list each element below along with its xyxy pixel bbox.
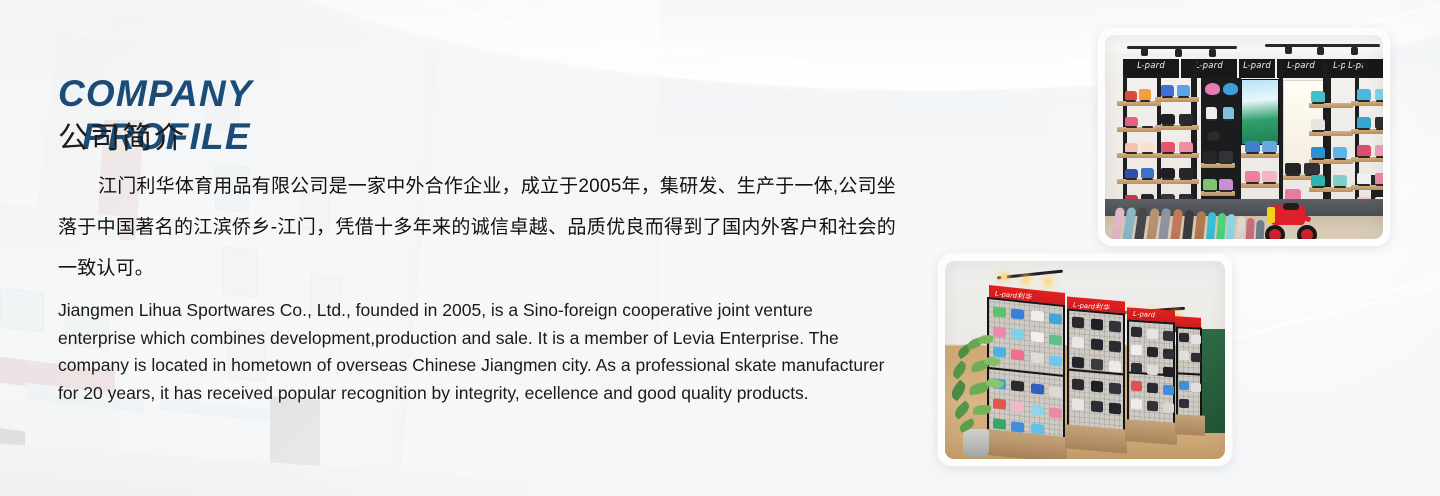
page-title-chinese: 公司简介 [58, 113, 186, 157]
company-profile-banner: COMPANY PROFILE 公司简介 江门利华体育用品有限公司是一家中外合作… [0, 0, 1440, 496]
photo-1-image: L-pard L-pard L-pard L-pard L-pard L-par… [1105, 35, 1383, 239]
profile-paragraph-chinese: 江门利华体育用品有限公司是一家中外合作企业，成立于2005年，集研发、生产于一体… [58, 166, 896, 289]
photo-showroom-wall-display[interactable]: L-pard L-pard L-pard L-pard L-pard L-par… [1098, 28, 1390, 246]
profile-paragraph-english: Jiangmen Lihua Sportwares Co., Ltd., fou… [58, 297, 894, 407]
photo-showroom-pegboard-display[interactable]: L-pard利华 L-pard利华 L-pard [938, 254, 1232, 466]
title-line-1: COMPANY [58, 73, 253, 114]
photo-2-image: L-pard利华 L-pard利华 L-pard [945, 261, 1225, 459]
text-column: COMPANY PROFILE 公司简介 江门利华体育用品有限公司是一家中外合作… [0, 0, 940, 496]
